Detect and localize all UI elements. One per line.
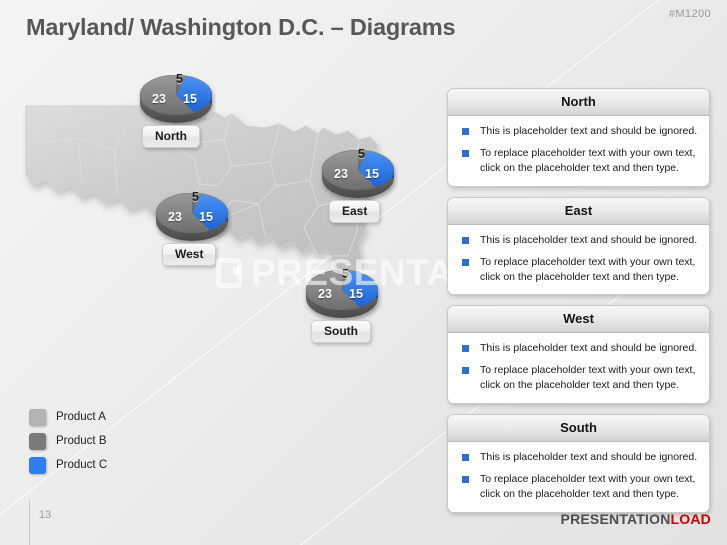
pie-chart-east: 23 15 5 bbox=[318, 150, 398, 202]
map-marker-east[interactable]: 23 15 5 East bbox=[318, 150, 398, 202]
panel-title-west: West bbox=[448, 306, 709, 333]
bullet-text: This is placeholder text and should be i… bbox=[480, 233, 697, 248]
panel-body-south: This is placeholder text and should be i… bbox=[448, 442, 709, 512]
map-marker-north[interactable]: 23 15 5 North bbox=[136, 75, 216, 127]
bullet-square-icon bbox=[462, 476, 469, 483]
page-number: 13 bbox=[39, 509, 51, 521]
brand-logo: PRESENTATIONLOAD bbox=[561, 511, 711, 527]
pie-chart-south: 23 15 5 bbox=[302, 270, 382, 322]
footer-divider bbox=[29, 500, 30, 545]
legend-label-product-a: Product A bbox=[56, 411, 106, 423]
panel-west[interactable]: West This is placeholder text and should… bbox=[447, 305, 710, 404]
list-item[interactable]: This is placeholder text and should be i… bbox=[458, 450, 699, 465]
legend-swatch-product-a bbox=[29, 409, 46, 426]
legend-label-product-b: Product B bbox=[56, 435, 107, 447]
brand-accent-text: LOAD bbox=[671, 511, 711, 527]
bullet-square-icon bbox=[462, 345, 469, 352]
map-marker-label-east[interactable]: East bbox=[329, 200, 380, 223]
map-marker-label-west[interactable]: West bbox=[162, 243, 216, 266]
map-marker-west[interactable]: 23 15 5 West bbox=[152, 193, 232, 245]
brand-primary-text: PRESENTATION bbox=[561, 511, 671, 527]
bullet-text: This is placeholder text and should be i… bbox=[480, 124, 697, 139]
list-item[interactable]: To replace placeholder text with your ow… bbox=[458, 363, 699, 393]
panel-body-north: This is placeholder text and should be i… bbox=[448, 116, 709, 186]
region-panels: North This is placeholder text and shoul… bbox=[447, 88, 710, 523]
bullet-square-icon bbox=[462, 259, 469, 266]
list-item[interactable]: This is placeholder text and should be i… bbox=[458, 341, 699, 356]
bullet-text: To replace placeholder text with your ow… bbox=[480, 146, 699, 176]
bullet-text: To replace placeholder text with your ow… bbox=[480, 255, 699, 285]
list-item[interactable]: This is placeholder text and should be i… bbox=[458, 233, 699, 248]
legend: Product A Product B Product C bbox=[29, 405, 107, 477]
legend-item-product-a: Product A bbox=[29, 405, 107, 429]
bullet-square-icon bbox=[462, 367, 469, 374]
bullet-square-icon bbox=[462, 454, 469, 461]
panel-east[interactable]: East This is placeholder text and should… bbox=[447, 197, 710, 296]
bullet-text: This is placeholder text and should be i… bbox=[480, 450, 697, 465]
pie-chart-west: 23 15 5 bbox=[152, 193, 232, 245]
list-item[interactable]: To replace placeholder text with your ow… bbox=[458, 146, 699, 176]
bullet-square-icon bbox=[462, 150, 469, 157]
panel-title-east: East bbox=[448, 198, 709, 225]
legend-label-product-c: Product C bbox=[56, 459, 107, 471]
legend-swatch-product-b bbox=[29, 433, 46, 450]
panel-body-west: This is placeholder text and should be i… bbox=[448, 333, 709, 403]
bullet-square-icon bbox=[462, 128, 469, 135]
bullet-text: To replace placeholder text with your ow… bbox=[480, 363, 699, 393]
list-item[interactable]: This is placeholder text and should be i… bbox=[458, 124, 699, 139]
panel-north[interactable]: North This is placeholder text and shoul… bbox=[447, 88, 710, 187]
bullet-text: To replace placeholder text with your ow… bbox=[480, 472, 699, 502]
legend-item-product-b: Product B bbox=[29, 429, 107, 453]
legend-swatch-product-c bbox=[29, 457, 46, 474]
list-item[interactable]: To replace placeholder text with your ow… bbox=[458, 472, 699, 502]
panel-body-east: This is placeholder text and should be i… bbox=[448, 225, 709, 295]
legend-item-product-c: Product C bbox=[29, 453, 107, 477]
page-title: Maryland/ Washington D.C. – Diagrams bbox=[26, 14, 455, 41]
list-item[interactable]: To replace placeholder text with your ow… bbox=[458, 255, 699, 285]
bullet-square-icon bbox=[462, 237, 469, 244]
map-marker-label-north[interactable]: North bbox=[142, 125, 200, 148]
panel-title-north: North bbox=[448, 89, 709, 116]
pie-chart-north: 23 15 5 bbox=[136, 75, 216, 127]
document-id: #M1200 bbox=[669, 8, 711, 20]
bullet-text: This is placeholder text and should be i… bbox=[480, 341, 697, 356]
map-marker-label-south[interactable]: South bbox=[311, 320, 371, 343]
map-marker-south[interactable]: 23 15 5 South bbox=[302, 270, 382, 322]
panel-title-south: South bbox=[448, 415, 709, 442]
panel-south[interactable]: South This is placeholder text and shoul… bbox=[447, 414, 710, 513]
